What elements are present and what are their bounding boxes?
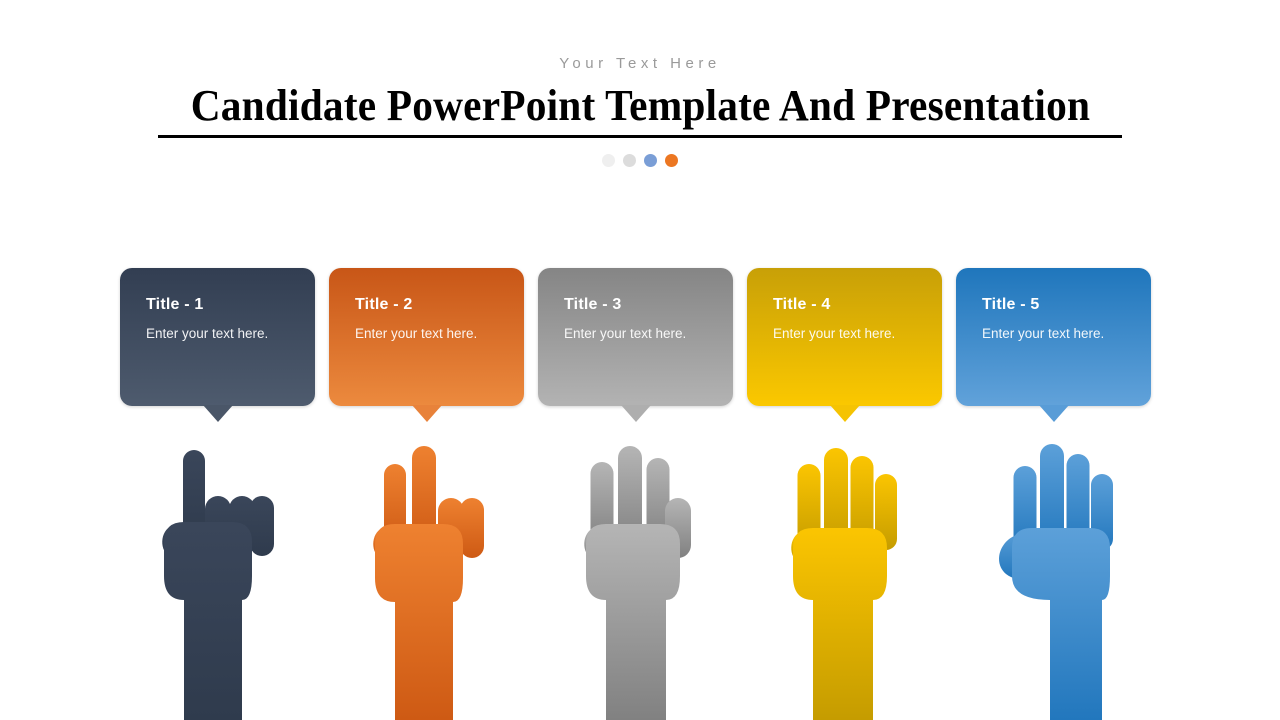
slide-header: Your Text Here Candidate PowerPoint Temp… xyxy=(0,0,1280,167)
speech-bubble-card-1[interactable]: Title - 1Enter your text here. xyxy=(120,268,315,406)
folded-knuckle-3 xyxy=(250,496,274,556)
card-column-2: Title - 2Enter your text here. xyxy=(329,268,524,406)
dot-4-icon[interactable] xyxy=(665,154,678,167)
speech-bubble-tail-4 xyxy=(830,405,860,422)
card-title-2: Title - 2 xyxy=(355,296,506,314)
speech-bubble-tail-1 xyxy=(203,405,233,422)
palm-and-arm xyxy=(164,522,252,720)
speech-bubble-card-4[interactable]: Title - 4Enter your text here. xyxy=(747,268,942,406)
palm-and-arm xyxy=(586,524,680,720)
card-column-1: Title - 1Enter your text here. xyxy=(120,268,315,406)
page-title: Candidate PowerPoint Template And Presen… xyxy=(190,83,1089,129)
card-body-4: Enter your text here. xyxy=(773,326,924,342)
card-title-5: Title - 5 xyxy=(982,296,1133,314)
card-column-3: Title - 3Enter your text here. xyxy=(538,268,733,406)
card-body-3: Enter your text here. xyxy=(564,326,715,342)
palm-and-arm xyxy=(375,524,463,720)
speech-bubble-card-row: Title - 1Enter your text here.Title - 2E… xyxy=(120,268,1160,406)
palm-and-arm xyxy=(793,528,887,720)
hand-column-3 xyxy=(538,432,733,720)
speech-bubble-card-3[interactable]: Title - 3Enter your text here. xyxy=(538,268,733,406)
card-body-2: Enter your text here. xyxy=(355,326,506,342)
dot-1-icon[interactable] xyxy=(602,154,615,167)
hand-three-fingers-illustration xyxy=(574,432,698,720)
dot-indicator-group xyxy=(0,154,1280,167)
palm-and-arm xyxy=(1012,528,1110,720)
hand-four-fingers-illustration xyxy=(783,432,907,720)
speech-bubble-tail-3 xyxy=(621,405,651,422)
hand-five-fingers-illustration xyxy=(992,432,1116,720)
hand-two-fingers-illustration xyxy=(365,432,489,720)
dot-2-icon[interactable] xyxy=(623,154,636,167)
folded-knuckle-2 xyxy=(460,498,484,558)
hand-column-5 xyxy=(956,432,1151,720)
page-title-underline: Candidate PowerPoint Template And Presen… xyxy=(158,83,1123,138)
card-column-4: Title - 4Enter your text here. xyxy=(747,268,942,406)
card-column-5: Title - 5Enter your text here. xyxy=(956,268,1151,406)
eyebrow-text: Your Text Here xyxy=(0,56,1280,71)
card-body-5: Enter your text here. xyxy=(982,326,1133,342)
hand-one-finger-illustration xyxy=(156,432,280,720)
speech-bubble-tail-5 xyxy=(1039,405,1069,422)
speech-bubble-card-5[interactable]: Title - 5Enter your text here. xyxy=(956,268,1151,406)
hand-illustration-row xyxy=(120,432,1160,720)
speech-bubble-card-2[interactable]: Title - 2Enter your text here. xyxy=(329,268,524,406)
hand-column-4 xyxy=(747,432,942,720)
card-title-3: Title - 3 xyxy=(564,296,715,314)
hand-column-2 xyxy=(329,432,524,720)
card-body-1: Enter your text here. xyxy=(146,326,297,342)
speech-bubble-tail-2 xyxy=(412,405,442,422)
hand-column-1 xyxy=(120,432,315,720)
dot-3-icon[interactable] xyxy=(644,154,657,167)
card-title-1: Title - 1 xyxy=(146,296,297,314)
card-title-4: Title - 4 xyxy=(773,296,924,314)
